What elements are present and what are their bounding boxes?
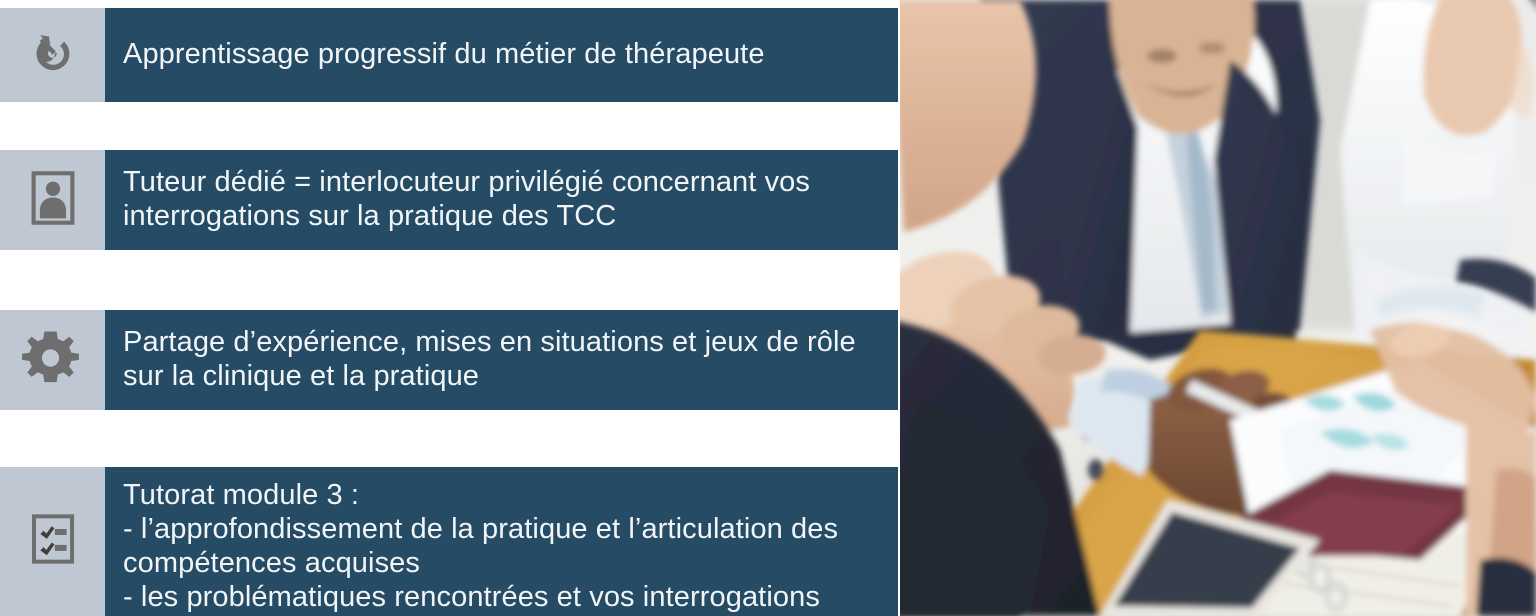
feature-row: Tuteur dédié = interlocuteur privilégié …	[0, 150, 898, 250]
text-cell: Partage d’expérience, mises en situation…	[105, 310, 898, 410]
text-cell: Tutorat module 3 : - l’approfondissement…	[105, 467, 898, 616]
feature-row: Partage d’expérience, mises en situation…	[0, 310, 898, 410]
slide-root: Apprentissage progressif du métier de th…	[0, 0, 1536, 616]
icon-cell	[0, 467, 105, 616]
icon-cell	[0, 150, 105, 250]
feature-row-label: Apprentissage progressif du métier de th…	[123, 38, 765, 72]
feature-row: Apprentissage progressif du métier de th…	[0, 8, 898, 102]
gear-icon	[21, 326, 85, 395]
person-portrait-icon	[22, 167, 84, 234]
text-cell: Tuteur dédié = interlocuteur privilégié …	[105, 150, 898, 250]
target-arrow-icon	[22, 22, 84, 89]
text-cell: Apprentissage progressif du métier de th…	[105, 8, 898, 102]
feature-row-label: Partage d’expérience, mises en situation…	[123, 326, 884, 394]
feature-row: Tutorat module 3 : - l’approfondissement…	[0, 467, 898, 616]
feature-row-label: Tutorat module 3 : - l’approfondissement…	[123, 479, 884, 615]
icon-cell	[0, 310, 105, 410]
business-meeting-photo	[900, 0, 1536, 616]
feature-list: Apprentissage progressif du métier de th…	[0, 0, 900, 616]
checklist-icon	[24, 510, 82, 573]
feature-row-label: Tuteur dédié = interlocuteur privilégié …	[123, 166, 884, 234]
icon-cell	[0, 8, 105, 102]
